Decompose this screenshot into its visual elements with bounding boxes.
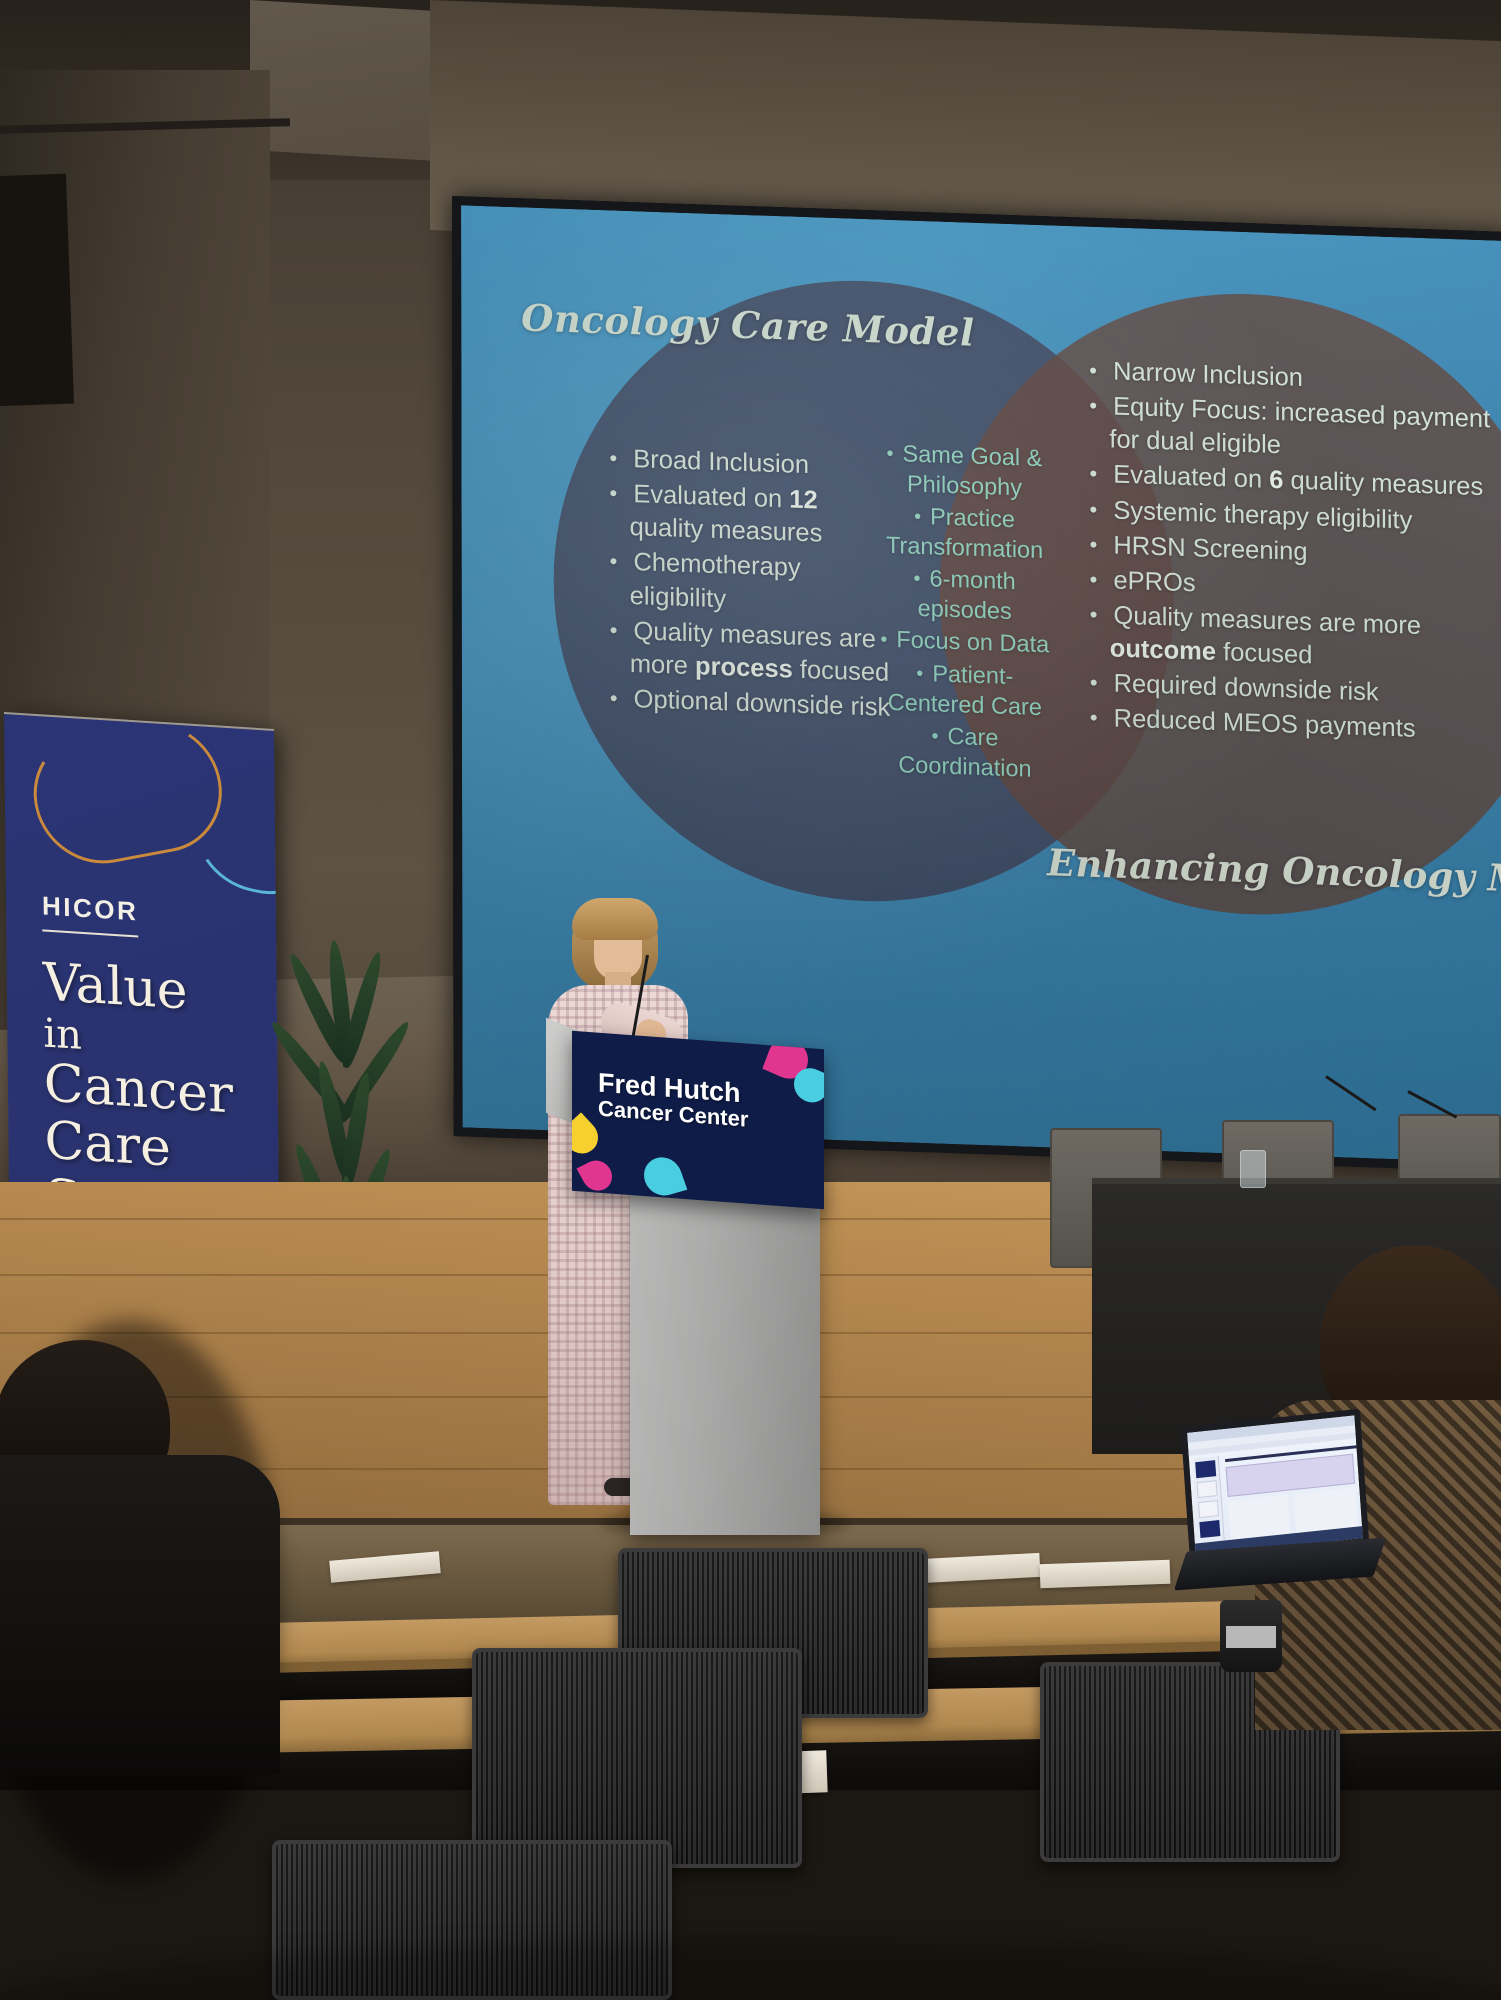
podium-sign-text: Fred Hutch Cancer Center (598, 1069, 748, 1131)
audience-chair-2 (472, 1648, 802, 1868)
list-item: Chemotherapy eligibility (610, 546, 892, 622)
photo-scene: Oncology Care Model Enhancing Oncology M… (0, 0, 1501, 2000)
audience-shoulders-left (0, 1455, 280, 1775)
right-circle-bullets: Narrow Inclusion Equity Focus: increased… (1089, 355, 1501, 752)
list-item: Evaluated on 12 quality measures (609, 478, 891, 554)
podium-sign: Fred Hutch Cancer Center (572, 1031, 824, 1210)
banner-divider (42, 929, 138, 937)
left-circle-bullets: Broad Inclusion Evaluated on 12 quality … (609, 442, 891, 727)
coffee-mug (1220, 1600, 1282, 1672)
water-glass (1240, 1150, 1266, 1188)
podium-dot-cyan-2 (639, 1153, 688, 1200)
mug-label (1226, 1626, 1276, 1648)
wall-dark-panel (0, 174, 74, 407)
podium-body (630, 1190, 820, 1535)
foreground-vignette-bottom (0, 1940, 1501, 2000)
paper-handout-3 (1040, 1560, 1171, 1589)
overlap-bullets: Same Goal & Philosophy Practice Transfor… (869, 437, 1060, 786)
list-item: Care Coordination (870, 718, 1060, 785)
list-item: Optional downside risk (610, 682, 892, 725)
list-item: Patient-Centered Care (870, 656, 1060, 723)
list-item: 6-month episodes (870, 562, 1060, 629)
banner-org-name: HICOR (42, 890, 139, 927)
list-item: Equity Focus: increased payment for dual… (1089, 390, 1501, 471)
list-item: Same Goal & Philosophy (869, 437, 1059, 504)
list-item: Practice Transformation (870, 499, 1060, 566)
audience-laptop-screen[interactable] (1181, 1409, 1370, 1562)
speaker-hair-front (572, 898, 658, 940)
list-item: Focus on Data (870, 624, 1060, 661)
podium-dot-pink-2 (577, 1155, 618, 1195)
list-item: Quality measures are more process focuse… (610, 614, 892, 690)
list-item: Quality measures are more outcome focuse… (1090, 599, 1501, 680)
